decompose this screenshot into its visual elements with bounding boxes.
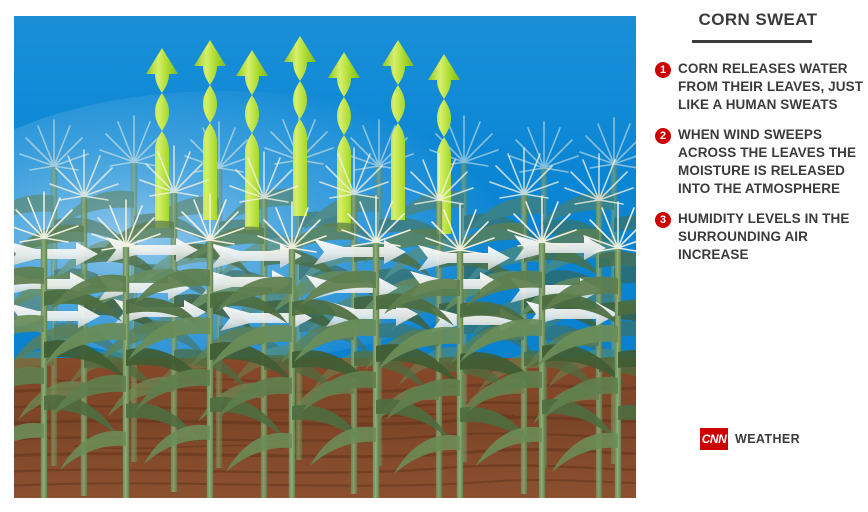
steps-list: 1 CORN RELEASES WATER FROM THEIR LEAVES,…	[652, 60, 868, 276]
list-item: 3 HUMIDITY LEVELS IN THE SURROUNDING AIR…	[652, 210, 868, 264]
step-text: HUMIDITY LEVELS IN THE SURROUNDING AIR I…	[678, 211, 849, 262]
weather-logo-label: WEATHER	[735, 432, 800, 446]
page-title: CORN SWEAT	[648, 10, 868, 30]
list-item: 1 CORN RELEASES WATER FROM THEIR LEAVES,…	[652, 60, 868, 114]
step-number-badge: 2	[655, 128, 671, 144]
cnn-logo-mark: CNN	[700, 428, 728, 450]
step-number-badge: 3	[655, 212, 671, 228]
step-text: WHEN WIND SWEEPS ACROSS THE LEAVES THE M…	[678, 127, 856, 196]
info-panel: CORN SWEAT 1 CORN RELEASES WATER FROM TH…	[648, 0, 868, 512]
step-number-badge: 1	[655, 62, 671, 78]
cnn-weather-logo: CNN WEATHER	[700, 428, 800, 450]
step-text: CORN RELEASES WATER FROM THEIR LEAVES, J…	[678, 61, 863, 112]
title-divider	[692, 40, 812, 43]
list-item: 2 WHEN WIND SWEEPS ACROSS THE LEAVES THE…	[652, 126, 868, 198]
corn-field-illustration	[14, 16, 636, 498]
